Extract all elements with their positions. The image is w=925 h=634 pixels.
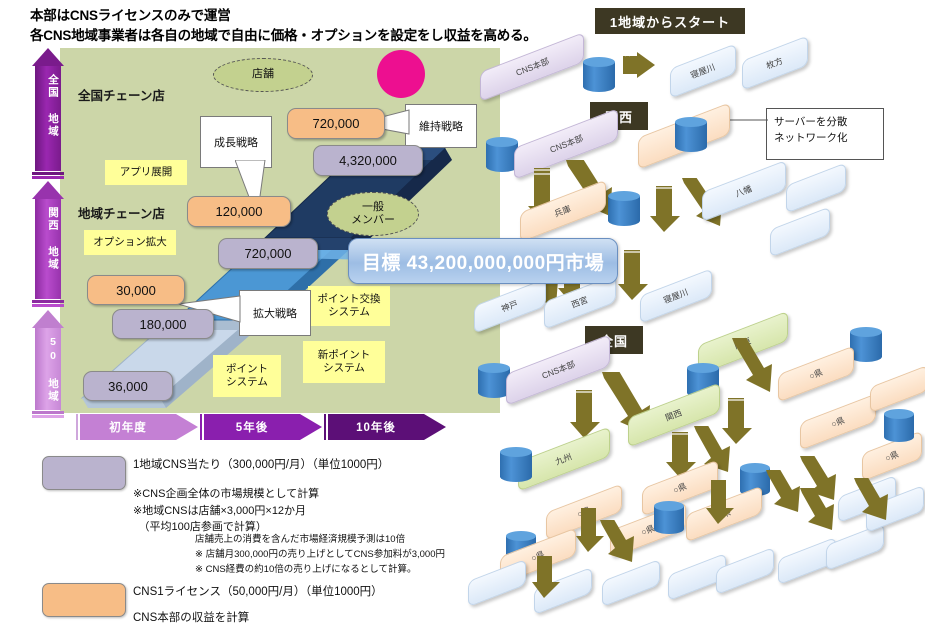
target-market-banner: 目標 43,200,000,000円市場 [348,238,618,284]
flow-arrow-19 [600,520,640,564]
node-cns-hq-3-label: CNS本部 [540,358,577,382]
legend-swatch-purple [42,456,126,490]
timeline-label-10-years: 10年後 [328,414,424,440]
legend-orange-title: CNS1ライセンス（50,000円/月）（単位1000円） [133,584,513,602]
node-neyagawa-1-label: 寝屋川 [689,61,717,81]
timeline-row: 初年度 5年後 10年後 [74,414,446,440]
legend-purple-title: 1地域CNS当たり（300,000円/月）（単位1000円） [133,457,513,475]
timeline-label-first-year: 初年度 [80,414,176,440]
server-cylinder-4 [675,122,707,152]
node-nishinomiya-label: 西宮 [570,293,590,310]
node-hirakata-label: 枚方 [765,54,785,71]
tag-option-expansion: オプション拡大 [84,230,176,255]
node-ken-1-label: ○県 [807,366,824,382]
flow-arrow-22 [854,478,894,522]
node-kobe-label: 神戸 [500,297,520,314]
tag-app-rollout: アプリ展開 [105,160,187,185]
node-yawata-label: 八幡 [734,182,754,199]
callout-maintain-strategy: 維持戦略 [405,104,477,148]
flow-arrow-1 [623,52,671,86]
server-cylinder-11 [654,506,684,534]
value-pill-180000: 180,000 [112,309,214,339]
flow-arrow-21 [800,488,840,532]
flow-arrow-17 [706,480,738,524]
timeline-item-10-years: 10年後 [328,414,446,440]
value-pill-36000: 36,000 [83,371,173,401]
label-regional-chain: 地域チェーン店 [78,203,165,222]
network-expansion-diagram: 1地域からスタート 関西 全国 サーバーを分散 ネットワーク化 CNS本部 寝屋… [470,0,925,634]
tag-point-exchange-system: ポイント交換 システム [308,286,390,326]
callout-server-line-2: ネットワーク化 [774,131,876,147]
node-hyogo-label: 兵庫 [553,202,573,219]
legend-swatch-orange [42,583,126,617]
legend-orange-note: CNS本部の収益を計算 [133,610,513,628]
magenta-highlight-dot [377,50,425,98]
callout-server-distribution: サーバーを分散 ネットワーク化 [766,108,884,160]
section-tag-start: 1地域からスタート [595,8,745,34]
server-cylinder-12 [884,414,914,442]
value-pill-120000: 120,000 [187,196,291,227]
node-ken-2-label: ○県 [829,414,846,430]
callout-expansion-strategy: 拡大戦略 [239,290,311,336]
ellipse-general-member: 一般 メンバー [327,192,419,236]
timeline-label-5-years: 5年後 [204,414,300,440]
server-cylinder-3 [608,196,640,226]
node-cns-hq-2-label: CNS本部 [548,132,585,156]
tag-new-point-system: 新ポイント システム [303,341,385,383]
callout-server-line-1: サーバーを分散 [774,115,876,131]
ellipse-general-member-line1: 一般 [362,201,384,214]
server-cylinder-8 [500,452,532,482]
value-pill-720000-top: 720,000 [287,108,385,139]
scope-arrow-kansai-label: 関西 地域 [35,199,61,271]
flow-arrow-4 [650,186,684,234]
value-pill-720000-mid: 720,000 [218,238,318,269]
node-neyagawa-2-label: 寝屋川 [662,286,690,306]
scope-arrow-50-label: 50 地域 [35,328,61,403]
value-pill-4320000: 4,320,000 [313,145,423,176]
timeline-item-5-years: 5年後 [204,414,322,440]
value-pill-30000: 30,000 [87,275,185,305]
node-kansai-region-label: 関西 [664,406,684,423]
flow-arrow-20 [532,556,564,598]
server-cylinder-7 [850,332,882,362]
node-kyushu-label: 九州 [554,450,574,467]
node-ken-3-label: ○県 [671,480,688,496]
scope-arrow-national-label: 全国 地域 [35,66,61,138]
server-cylinder-1 [583,62,615,92]
label-national-chain: 全国チェーン店 [78,85,165,104]
node-cns-hq-1-label: CNS本部 [514,55,551,79]
flow-arrow-11 [732,338,784,394]
tag-point-system: ポイント システム [213,355,281,397]
ellipse-store: 店舗 [213,58,313,92]
node-ken-8-label: ○県 [883,448,900,464]
timeline-item-first-year: 初年度 [80,414,198,440]
ellipse-general-member-line2: メンバー [351,214,395,227]
